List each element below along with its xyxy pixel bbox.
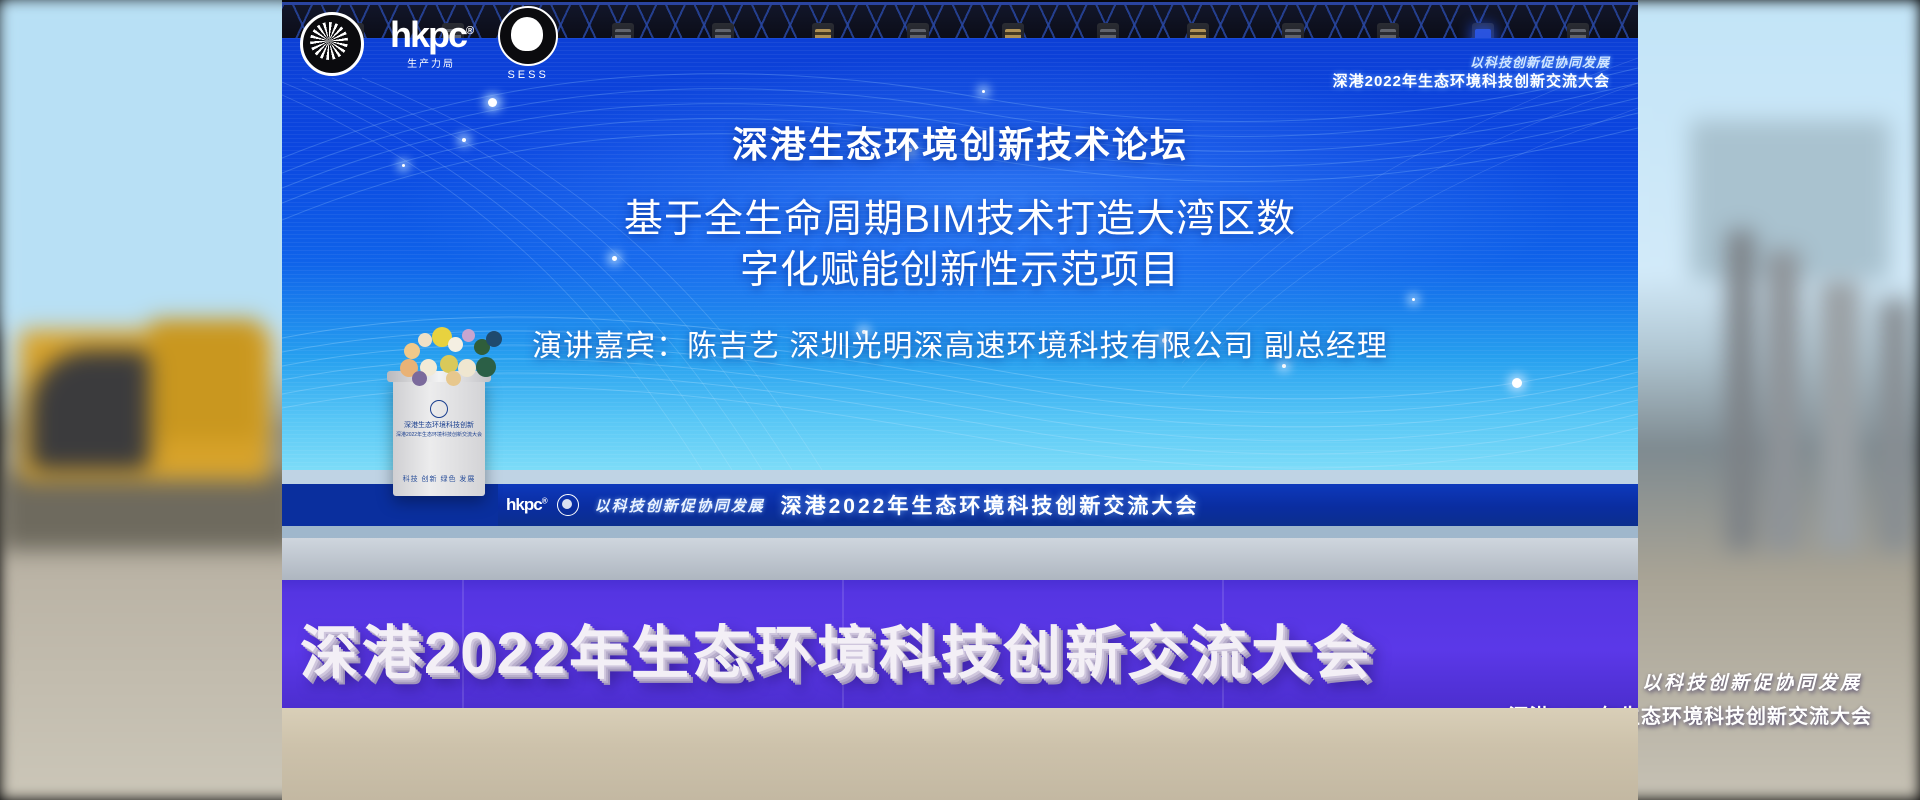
strip-logo-group: hkpc® xyxy=(498,494,579,516)
topic-line-1: 基于全生命周期BIM技术打造大湾区数 xyxy=(282,194,1638,245)
sky-left xyxy=(0,0,300,330)
slide-header-event: 深港2022年生态环境科技创新交流大会 xyxy=(1333,72,1610,92)
stage-3d-title: 深港2022年生态环境科技创新交流大会 xyxy=(300,606,1300,678)
flower-petal xyxy=(458,359,476,377)
pipe-3 xyxy=(1820,280,1860,550)
flower-petal xyxy=(412,371,427,386)
ground-shadow-left xyxy=(0,470,300,550)
stage-apron xyxy=(282,538,1638,580)
hkpc-chinese-name: 生产力局 xyxy=(407,55,455,70)
strip-tagline: 以科技创新促协同发展 xyxy=(595,495,765,516)
topic-title: 基于全生命周期BIM技术打造大湾区数 字化赋能创新性示范项目 xyxy=(282,194,1638,297)
strip-seal-icon xyxy=(557,494,579,516)
main-led-screen: 以科技创新促协同发展 深港2022年生态环境科技创新交流大会 深港生态环境创新技… xyxy=(282,38,1638,470)
pipe-4 xyxy=(1880,300,1910,550)
flower-petal xyxy=(404,343,420,359)
forum-title: 深港生态环境创新技术论坛 xyxy=(282,116,1638,168)
truck-cab xyxy=(150,320,260,440)
flower-arrangement xyxy=(398,325,508,387)
pipe-1 xyxy=(1766,250,1800,550)
podium-branding: 深港生态环境科技创新 深港2022年生态环境科技创新交流大会 xyxy=(393,400,485,439)
screen-sparkle xyxy=(488,98,497,107)
podium-org-line-1: 深港生态环境科技创新 xyxy=(393,420,485,431)
strip-hkpc-logo: hkpc® xyxy=(506,495,547,515)
slide-header-tagline: 以科技创新促协同发展 xyxy=(1333,54,1610,72)
flower-petal xyxy=(446,371,461,386)
screen-sparkle xyxy=(982,90,985,93)
flower-petal xyxy=(418,333,432,347)
shenzhen-ecology-seal-icon xyxy=(300,12,364,76)
flower-petal xyxy=(462,329,475,342)
stage-scene: hkpc® 生产力局 SESS 发 展 新交流大会 成果展 促进局 点实验室 公… xyxy=(0,0,1920,800)
hkpc-logo: hkpc® 生产力局 xyxy=(390,17,472,70)
sess-logo: SESS xyxy=(498,6,558,81)
sess-abbr: SESS xyxy=(507,69,548,81)
pipe-2 xyxy=(1727,230,1755,550)
podium-org-line-2: 深港2022年生态环境科技创新交流大会 xyxy=(393,431,485,439)
slide-header: 以科技创新促协同发展 深港2022年生态环境科技创新交流大会 xyxy=(1333,54,1610,92)
hkpc-wordmark: hkpc® xyxy=(390,17,472,53)
flower-petal xyxy=(486,331,502,347)
stage-front-tagline: 以科技创新促协同发展 xyxy=(1642,668,1862,695)
top-logo-row: hkpc® 生产力局 SESS xyxy=(300,6,558,81)
venue-floor xyxy=(282,708,1638,800)
led-bottom-strip: hkpc® 以科技创新促协同发展 深港2022年生态环境科技创新交流大会 xyxy=(282,470,1638,538)
podium-footer-text: 科技 创新 绿色 发展 xyxy=(393,474,485,484)
truck-drum xyxy=(30,350,150,470)
led-strip-content: hkpc® 以科技创新促协同发展 深港2022年生态环境科技创新交流大会 xyxy=(498,484,1638,526)
sess-badge-icon xyxy=(498,6,558,66)
flower-petal xyxy=(476,357,496,377)
screen-sparkle xyxy=(1512,378,1522,388)
topic-line-2: 字化赋能创新性示范项目 xyxy=(282,245,1638,296)
podium-seal-icon xyxy=(430,400,448,418)
strip-event-title: 深港2022年生态环境科技创新交流大会 xyxy=(781,490,1200,520)
podium: 深港生态环境科技创新 深港2022年生态环境科技创新交流大会 科技 创新 绿色 … xyxy=(393,378,485,496)
flower-petal xyxy=(448,337,463,352)
